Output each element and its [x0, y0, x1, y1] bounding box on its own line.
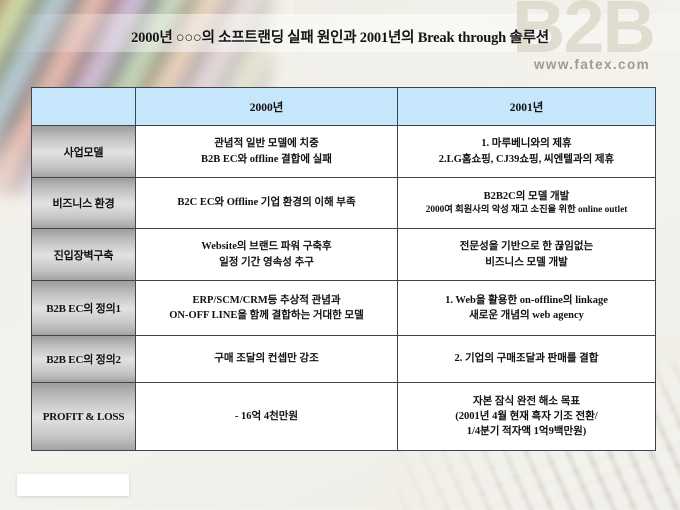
- table-row: PROFIT & LOSS - 16억 4천만원 자본 잠식 완전 해소 목표 …: [32, 383, 656, 451]
- slide-canvas: B2B www.fatex.com 2000년 ○○○의 소프트랜딩 실패 원인…: [0, 0, 680, 510]
- cell-2000-entry-barrier: Website의 브랜드 파워 구축후 일정 기간 영속성 추구: [136, 229, 398, 281]
- header-col-2000: 2000년: [136, 88, 398, 126]
- table-row: 진입장벽구축 Website의 브랜드 파워 구축후 일정 기간 영속성 추구 …: [32, 229, 656, 281]
- comparison-table-wrapper: 2000년 2001년 사업모델 관념적 일반 모델에 치중 B2B EC와 o…: [31, 87, 655, 451]
- bottom-text-box[interactable]: [17, 474, 129, 496]
- table-row: B2B EC의 정의2 구매 조달의 컨셉만 강조 2. 기업의 구매조달과 판…: [32, 336, 656, 383]
- comparison-table: 2000년 2001년 사업모델 관념적 일반 모델에 치중 B2B EC와 o…: [31, 87, 656, 451]
- table-row: B2B EC의 정의1 ERP/SCM/CRM등 추상적 관념과 ON-OFF …: [32, 281, 656, 336]
- row-label-b2b-ec-definition-2: B2B EC의 정의2: [32, 336, 136, 383]
- table-header-row: 2000년 2001년: [32, 88, 656, 126]
- cell-2001-b2b-ec-definition-1: 1. Web을 활용한 on-offline의 linkage 새로운 개념의 …: [398, 281, 656, 336]
- row-label-business-environment: 비즈니스 환경: [32, 178, 136, 229]
- cell-2000-b2b-ec-definition-1: ERP/SCM/CRM등 추상적 관념과 ON-OFF LINE을 함께 결합하…: [136, 281, 398, 336]
- header-col-2001: 2001년: [398, 88, 656, 126]
- row-label-business-model: 사업모델: [32, 126, 136, 178]
- fatex-url-watermark: www.fatex.com: [534, 57, 650, 72]
- table-row: 비즈니스 환경 B2C EC와 Offline 기업 환경의 이해 부족 B2B…: [32, 178, 656, 229]
- cell-2001-profit-and-loss: 자본 잠식 완전 해소 목표 (2001년 4월 현재 흑자 기조 전환/ 1/…: [398, 383, 656, 451]
- table-header: 2000년 2001년: [32, 88, 656, 126]
- row-label-profit-and-loss: PROFIT & LOSS: [32, 383, 136, 451]
- cell-2000-business-environment: B2C EC와 Offline 기업 환경의 이해 부족: [136, 178, 398, 229]
- cell-2001-business-model: 1. 마루베니와의 제휴 2.LG홈쇼핑, CJ39쇼핑, 씨엔텔과의 제휴: [398, 126, 656, 178]
- header-corner-cell: [32, 88, 136, 126]
- row-label-entry-barrier: 진입장벽구축: [32, 229, 136, 281]
- cell-2001-business-environment: B2B2C의 모델 개발 2000여 회원사의 악성 재고 소진을 위한 onl…: [398, 178, 656, 229]
- cell-2000-profit-and-loss: - 16억 4천만원: [136, 383, 398, 451]
- table-row: 사업모델 관념적 일반 모델에 치중 B2B EC와 offline 결합에 실…: [32, 126, 656, 178]
- cell-2000-b2b-ec-definition-2: 구매 조달의 컨셉만 강조: [136, 336, 398, 383]
- cell-2000-business-model: 관념적 일반 모델에 치중 B2B EC와 offline 결합에 실패: [136, 126, 398, 178]
- cell-2001-entry-barrier: 전문성을 기반으로 한 끊임없는 비즈니스 모델 개발: [398, 229, 656, 281]
- table-body: 사업모델 관념적 일반 모델에 치중 B2B EC와 offline 결합에 실…: [32, 126, 656, 451]
- row-label-b2b-ec-definition-1: B2B EC의 정의1: [32, 281, 136, 336]
- page-title: 2000년 ○○○의 소프트랜딩 실패 원인과 2001년의 Break thr…: [0, 26, 680, 47]
- cell-2001-b2b-ec-definition-2: 2. 기업의 구매조달과 판매를 결합: [398, 336, 656, 383]
